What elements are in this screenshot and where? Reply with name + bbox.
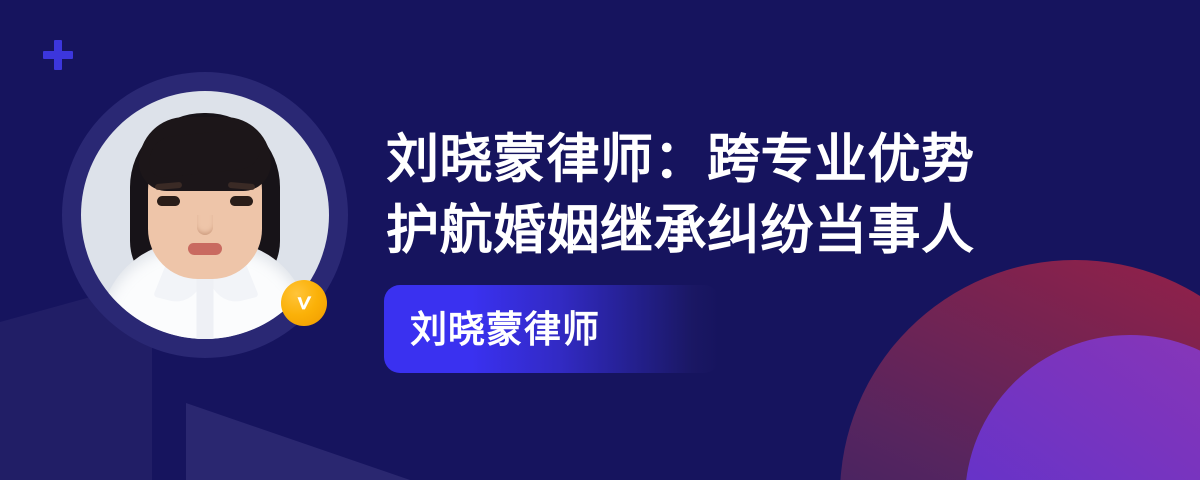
portrait-mouth bbox=[188, 243, 222, 255]
lawyer-name-label: 刘晓蒙律师 bbox=[410, 311, 600, 348]
banner-content: 刘晓蒙律师：跨专业优势 护航婚姻继承纠纷当事人 刘晓蒙律师 bbox=[386, 0, 975, 373]
lawyer-promo-banner: 刘晓蒙律师：跨专业优势 护航婚姻继承纠纷当事人 刘晓蒙律师 bbox=[0, 0, 1200, 480]
portrait-nose bbox=[197, 215, 213, 235]
headline-line-1: 刘晓蒙律师：跨专业优势 bbox=[386, 124, 975, 195]
portrait-shirt-placket bbox=[197, 271, 214, 339]
portrait-eye-right bbox=[230, 196, 253, 206]
avatar bbox=[62, 72, 348, 358]
lawyer-name-pill[interactable]: 刘晓蒙律师 bbox=[384, 285, 720, 373]
navy-triangle-shape bbox=[150, 395, 410, 480]
page-title: 刘晓蒙律师：跨专业优势 护航婚姻继承纠纷当事人 bbox=[386, 0, 975, 266]
portrait-eye-left bbox=[157, 196, 180, 206]
verified-badge-icon bbox=[281, 280, 327, 326]
plus-icon bbox=[43, 40, 73, 70]
headline-line-2: 护航婚姻继承纠纷当事人 bbox=[386, 195, 975, 266]
